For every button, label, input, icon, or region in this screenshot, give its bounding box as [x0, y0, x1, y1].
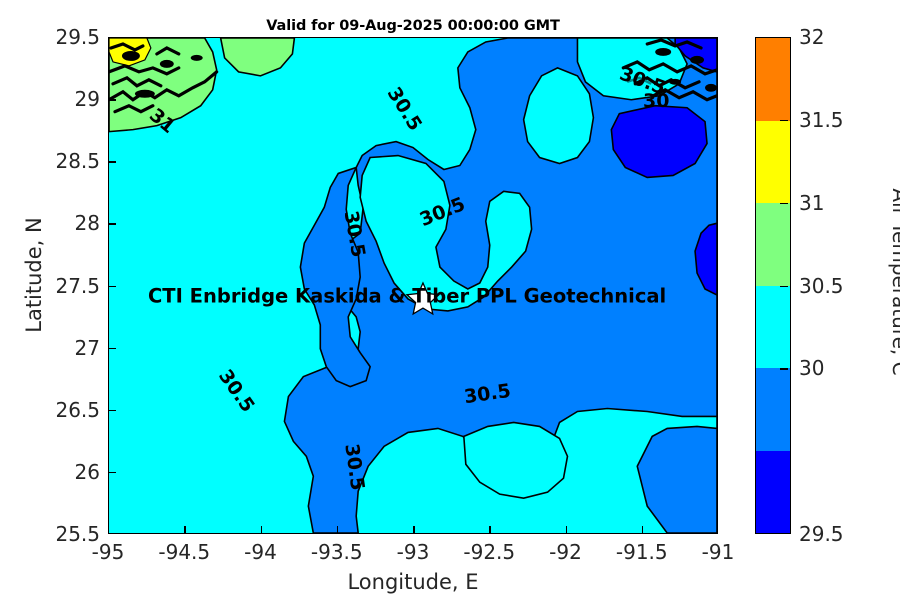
- site-annotation-label: CTI Enbridge Kaskida & Tiber PPL Geotech…: [148, 285, 666, 308]
- y-axis-title: Latitude, N: [22, 145, 46, 405]
- y-tick-label: 28.5: [0, 149, 100, 173]
- x-tick-label: -93: [397, 540, 430, 564]
- y-tick-label: 29.5: [0, 25, 100, 49]
- colorbar-title: Air Temperature, C: [888, 152, 900, 412]
- colorbar-ticklabels: 32 31.5 31 30.5 30 29.5: [795, 37, 875, 534]
- y-tick-label: 29: [0, 87, 100, 111]
- y-tick-label: 25.5: [0, 522, 100, 546]
- colorbar-band-30_5: [756, 286, 790, 369]
- x-tick-label: -91.5: [616, 540, 668, 564]
- colorbar-tick-label: 30.5: [799, 274, 844, 298]
- figure-root: Valid for 09-Aug-2025 00:00:00 GMT: [0, 0, 900, 600]
- colorbar-tick-label: 32: [799, 25, 824, 49]
- page-title: Valid for 09-Aug-2025 00:00:00 GMT: [108, 18, 718, 34]
- x-tick-label: -92.5: [463, 540, 515, 564]
- y-tick-label: 27.5: [0, 274, 100, 298]
- x-tick-label: -94: [244, 540, 277, 564]
- x-tick-label: -94.5: [158, 540, 210, 564]
- colorbar-band-31: [756, 203, 790, 286]
- colorbar-band-29_5: [756, 451, 790, 534]
- colorbar-band-30: [756, 368, 790, 451]
- y-axis-ticklabels: 29.5 29 28.5 28 27.5 27 26.5 26 25.5: [0, 37, 100, 534]
- y-tick-label: 27: [0, 336, 100, 360]
- colorbar-band-31_5: [756, 121, 790, 204]
- y-tick-label: 26.5: [0, 398, 100, 422]
- colorbar-tick-label: 31: [799, 191, 824, 215]
- x-tick-label: -95: [92, 540, 125, 564]
- y-tick-label: 26: [0, 460, 100, 484]
- x-tick-label: -93.5: [311, 540, 363, 564]
- x-tick-label: -91: [702, 540, 735, 564]
- colorbar-tick-label: 31.5: [799, 108, 844, 132]
- x-tick-label: -92: [549, 540, 582, 564]
- colorbar-band-32: [756, 38, 790, 121]
- x-axis-ticklabels: -95 -94.5 -94 -93.5 -93 -92.5 -92 -91.5 …: [108, 540, 718, 570]
- x-axis-title: Longitude, E: [108, 570, 718, 594]
- colorbar-tick-label: 30: [799, 356, 824, 380]
- colorbar-tick-label: 29.5: [799, 522, 844, 546]
- y-tick-label: 28: [0, 211, 100, 235]
- contour-label-30-northeast: 30: [643, 90, 669, 112]
